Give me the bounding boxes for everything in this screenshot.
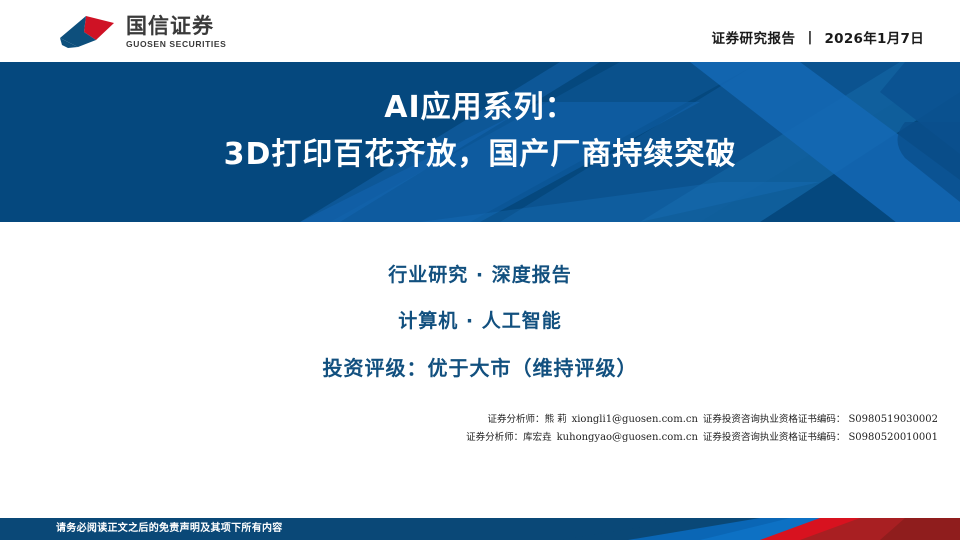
analyst-name: 熊 莉 bbox=[545, 414, 567, 425]
analyst-role-label: 证券分析师： bbox=[466, 432, 523, 443]
page-title-line2: 3D打印百花齐放，国产厂商持续突破 bbox=[0, 133, 960, 177]
analyst-list: 证券分析师：熊 莉xiongli1@guosen.com.cn证券投资咨询执业资… bbox=[466, 411, 938, 446]
guosen-diamond-logo-icon bbox=[56, 14, 118, 50]
meta-sector-line: 计算机 · 人工智能 bbox=[0, 306, 960, 333]
header-separator: | bbox=[808, 29, 813, 45]
report-date: 2026年1月7日 bbox=[824, 27, 924, 47]
report-type-label: 证券研究报告 bbox=[712, 27, 796, 47]
brand-logo: 国信证券 GUOSEN SECURITIES bbox=[56, 13, 226, 51]
report-meta-block: 行业研究 · 深度报告 计算机 · 人工智能 投资评级：优于大市（维持评级） bbox=[0, 260, 960, 381]
meta-research-line: 行业研究 · 深度报告 bbox=[0, 260, 960, 287]
footer-disclaimer: 请务必阅读正文之后的免责声明及其项下所有内容 bbox=[56, 518, 283, 540]
hero-banner: AI应用系列： 3D打印百花齐放，国产厂商持续突破 bbox=[0, 62, 960, 222]
analyst-row: 证券分析师：库宏垚kuhongyao@guosen.com.cn证券投资咨询执业… bbox=[466, 429, 938, 447]
analyst-row: 证券分析师：熊 莉xiongli1@guosen.com.cn证券投资咨询执业资… bbox=[466, 411, 938, 429]
page-header: 国信证券 GUOSEN SECURITIES 证券研究报告 | 2026年1月7… bbox=[0, 0, 960, 62]
analyst-email: kuhongyao@guosen.com.cn bbox=[557, 432, 698, 443]
analyst-name: 库宏垚 bbox=[523, 432, 552, 443]
brand-name-en: GUOSEN SECURITIES bbox=[126, 40, 226, 49]
analyst-cert-label: 证券投资咨询执业资格证书编码： bbox=[703, 432, 846, 443]
analyst-cert-label: 证券投资咨询执业资格证书编码： bbox=[703, 414, 846, 425]
report-cover-page: 国信证券 GUOSEN SECURITIES 证券研究报告 | 2026年1月7… bbox=[0, 0, 960, 540]
analyst-cert-number: S0980520010001 bbox=[848, 432, 938, 443]
page-footer: 请务必阅读正文之后的免责声明及其项下所有内容 bbox=[0, 518, 960, 540]
analyst-email: xiongli1@guosen.com.cn bbox=[572, 414, 698, 425]
analyst-role-label: 证券分析师： bbox=[488, 414, 545, 425]
brand-wordmark: 国信证券 GUOSEN SECURITIES bbox=[126, 16, 226, 49]
analyst-cert-number: S0980519030002 bbox=[848, 414, 938, 425]
page-title-line1: AI应用系列： bbox=[0, 88, 960, 129]
page-title: AI应用系列： 3D打印百花齐放，国产厂商持续突破 bbox=[0, 88, 960, 176]
header-meta: 证券研究报告 | 2026年1月7日 bbox=[712, 27, 925, 47]
meta-rating-line: 投资评级：优于大市（维持评级） bbox=[0, 352, 960, 381]
brand-name-cn: 国信证券 bbox=[126, 16, 226, 37]
